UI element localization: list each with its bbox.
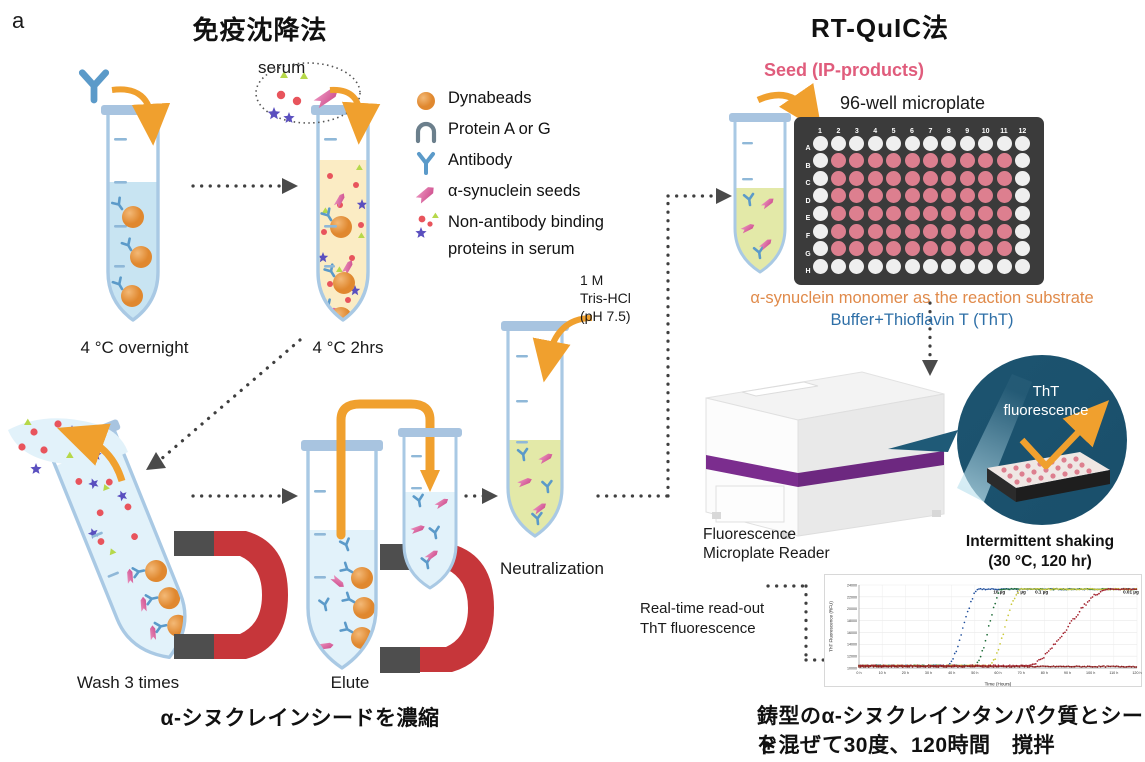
microplate-well-H5[interactable] — [886, 259, 901, 274]
microplate-well-A1[interactable] — [813, 136, 828, 151]
microplate-well-B3[interactable] — [849, 153, 864, 168]
chart-x-tick: 30 h — [925, 671, 932, 675]
chart-y-tick: 14000 — [847, 643, 857, 647]
microplate-well-C9[interactable] — [960, 171, 975, 186]
microplate-well-F8[interactable] — [941, 224, 956, 239]
microplate-col-label: 6 — [906, 128, 918, 135]
microplate-well-E4[interactable] — [868, 206, 883, 221]
tube-step2 — [311, 105, 375, 335]
tris-label-line2: Tris-HCl — [580, 290, 631, 306]
microplate-col-label: 12 — [1016, 128, 1028, 135]
tube-step1 — [101, 105, 165, 332]
microplate-well-C2[interactable] — [831, 171, 846, 186]
microplate-well-G1[interactable] — [813, 241, 828, 256]
microplate-well-H9[interactable] — [960, 259, 975, 274]
microplate-well-F9[interactable] — [960, 224, 975, 239]
microplate-well-E6[interactable] — [905, 206, 920, 221]
chart-series-annotation: 1 µg — [1017, 589, 1026, 594]
microplate-col-label: 1 — [814, 128, 826, 135]
microplate-col-label: 4 — [869, 128, 881, 135]
dynabead-icon — [414, 88, 448, 114]
microplate-row-label: E — [802, 215, 814, 222]
shaking-caption-line1: Intermittent shaking — [915, 533, 1145, 551]
chart-x-tick: 120 h — [1132, 671, 1141, 675]
microplate-well-D6[interactable] — [905, 188, 920, 203]
microplate-row-label: G — [802, 251, 814, 258]
microplate-well-A6[interactable] — [905, 136, 920, 151]
microplate-well-H6[interactable] — [905, 259, 920, 274]
microplate-well-A11[interactable] — [997, 136, 1012, 151]
legend-label: Non-antibody binding — [448, 212, 604, 231]
microplate-well-F2[interactable] — [831, 224, 846, 239]
microplate-well-A8[interactable] — [941, 136, 956, 151]
serum-proteins-icon — [414, 212, 448, 238]
legend-item-antibody: Antibody — [414, 150, 676, 176]
microplate-well-F3[interactable] — [849, 224, 864, 239]
microplate-well-D3[interactable] — [849, 188, 864, 203]
tht-circle-label-line1: ThT — [996, 383, 1096, 400]
microplate-well-B6[interactable] — [905, 153, 920, 168]
microplate-well-A2[interactable] — [831, 136, 846, 151]
seed-ip-products-label: Seed (IP-products) — [764, 60, 924, 81]
microplate-well-H8[interactable] — [941, 259, 956, 274]
chart-y-tick: 24000 — [847, 583, 857, 587]
microplate-well-C7[interactable] — [923, 171, 938, 186]
buffer-caption: Buffer+Thioflavin T (ThT) — [712, 311, 1132, 330]
microplate-well-C10[interactable] — [978, 171, 993, 186]
legend-item-synuclein-seeds: α-synuclein seeds — [414, 181, 676, 207]
microplate-well-G5[interactable] — [886, 241, 901, 256]
chart-y-axis-title: ThT Fluorescence (RFU) — [829, 601, 834, 652]
microplate-well-F7[interactable] — [923, 224, 938, 239]
microplate-col-label: 9 — [961, 128, 973, 135]
microplate-row-label: B — [802, 163, 814, 170]
legend-label: Antibody — [448, 150, 512, 169]
microplate-well-G11[interactable] — [997, 241, 1012, 256]
microplate-reader — [706, 372, 944, 539]
microplate-well-F10[interactable] — [978, 224, 993, 239]
microplate-well-E2[interactable] — [831, 206, 846, 221]
chart-x-tick: 80 h — [1041, 671, 1048, 675]
chart-x-tick: 40 h — [948, 671, 955, 675]
seed-to-plate-arrow — [758, 95, 808, 112]
chart-x-tick: 20 h — [902, 671, 909, 675]
legend-spacer-icon — [414, 239, 448, 265]
microplate-row-label: A — [802, 145, 814, 152]
microplate-well-G8[interactable] — [941, 241, 956, 256]
microplate-title: 96-well microplate — [840, 93, 985, 114]
microplate-well-D8[interactable] — [941, 188, 956, 203]
chart-x-tick: 60 h — [994, 671, 1001, 675]
microplate-well-H11[interactable] — [997, 259, 1012, 274]
serum-label: serum — [258, 58, 305, 78]
microplate-well-F11[interactable] — [997, 224, 1012, 239]
microplate-well-A7[interactable] — [923, 136, 938, 151]
microplate-well-E12[interactable] — [1015, 206, 1030, 221]
chart-x-tick: 50 h — [971, 671, 978, 675]
microplate-well-C5[interactable] — [886, 171, 901, 186]
microplate-row-label: H — [802, 268, 814, 275]
microplate-well-E8[interactable] — [941, 206, 956, 221]
chart-x-axis-title: Time (Hours) — [985, 682, 1012, 687]
microplate-well-E5[interactable] — [886, 206, 901, 221]
microplate-well-F1[interactable] — [813, 224, 828, 239]
step1-caption: 4 °C overnight — [62, 338, 207, 358]
substrate-caption: α-synuclein monomer as the reaction subs… — [712, 289, 1132, 308]
microplate-well-D2[interactable] — [831, 188, 846, 203]
protein-ag-icon — [414, 119, 448, 145]
microplate-well-B12[interactable] — [1015, 153, 1030, 168]
chart-y-tick: 12000 — [847, 655, 857, 659]
microplate-well-E10[interactable] — [978, 206, 993, 221]
microplate-well-A4[interactable] — [868, 136, 883, 151]
microplate-well-C11[interactable] — [997, 171, 1012, 186]
microplate-well-A10[interactable] — [978, 136, 993, 151]
chart-x-tick: 0 h — [856, 671, 861, 675]
legend-item-dynabeads: Dynabeads — [414, 88, 676, 114]
chart-x-tick: 110 h — [1109, 671, 1118, 675]
chart-y-tick: 18000 — [847, 619, 857, 623]
chart-x-tick: 70 h — [1018, 671, 1025, 675]
microplate-well-B9[interactable] — [960, 153, 975, 168]
microplate-well-F6[interactable] — [905, 224, 920, 239]
microplate-well-E11[interactable] — [997, 206, 1012, 221]
microplate-well-G10[interactable] — [978, 241, 993, 256]
microplate-well-G9[interactable] — [960, 241, 975, 256]
microplate-col-label: 5 — [888, 128, 900, 135]
chart-y-tick: 10000 — [847, 666, 857, 670]
microplate-well-G3[interactable] — [849, 241, 864, 256]
reader-caption-line2: Microplate Reader — [703, 545, 830, 563]
microplate-row-label: D — [802, 198, 814, 205]
microplate-well-D7[interactable] — [923, 188, 938, 203]
microplate-col-label: 11 — [998, 128, 1010, 135]
microplate-well-C4[interactable] — [868, 171, 883, 186]
chart-x-tick: 90 h — [1064, 671, 1071, 675]
microplate-well-D9[interactable] — [960, 188, 975, 203]
microplate-well-H3[interactable] — [849, 259, 864, 274]
microplate-well-B10[interactable] — [978, 153, 993, 168]
microplate-well-B8[interactable] — [941, 153, 956, 168]
chart-x-tick: 100 h — [1086, 671, 1095, 675]
microplate-well-F12[interactable] — [1015, 224, 1030, 239]
microplate-well-H10[interactable] — [978, 259, 993, 274]
microplate-well-D1[interactable] — [813, 188, 828, 203]
microplate-96well[interactable]: 123456789101112 ABCDEFGH — [794, 117, 1044, 285]
microplate-well-B11[interactable] — [997, 153, 1012, 168]
microplate-col-label: 7 — [924, 128, 936, 135]
antibody-icon — [414, 150, 448, 176]
chart-x-tick: 10 h — [879, 671, 886, 675]
step4-caption: Elute — [295, 673, 405, 693]
microplate-well-B5[interactable] — [886, 153, 901, 168]
microplate-well-H4[interactable] — [868, 259, 883, 274]
microplate-well-C6[interactable] — [905, 171, 920, 186]
microplate-col-label: 3 — [851, 128, 863, 135]
microplate-well-F5[interactable] — [886, 224, 901, 239]
right-bottom-caption-line2: を混ぜて30度、120時間 撹拌 — [757, 729, 1055, 759]
step3-caption: Wash 3 times — [48, 673, 208, 693]
tube-step5 — [501, 321, 569, 550]
tht-kinetics-chart: 10 µg1 µg0.1 µg0.01 µg100001200014000160… — [824, 574, 1142, 687]
microplate-well-G6[interactable] — [905, 241, 920, 256]
microplate-well-C3[interactable] — [849, 171, 864, 186]
chart-series-annotation: 0.01 µg — [1123, 589, 1139, 594]
legend-item-serum-proteins-cont: proteins in serum — [414, 239, 676, 265]
microplate-well-E9[interactable] — [960, 206, 975, 221]
microplate-well-H1[interactable] — [813, 259, 828, 274]
microplate-well-G7[interactable] — [923, 241, 938, 256]
microplate-well-D12[interactable] — [1015, 188, 1030, 203]
microplate-well-E7[interactable] — [923, 206, 938, 221]
tris-label-line3: (pH 7.5) — [580, 308, 631, 324]
chart-series-annotation: 0.1 µg — [1035, 589, 1048, 594]
synuclein-seed-icon — [414, 181, 448, 207]
microplate-well-G2[interactable] — [831, 241, 846, 256]
microplate-col-label: 8 — [943, 128, 955, 135]
readout-caption-line2: ThT fluorescence — [640, 620, 756, 637]
microplate-well-H2[interactable] — [831, 259, 846, 274]
legend-item-protein-ag: Protein A or G — [414, 119, 676, 145]
tht-chart-svg: 10 µg1 µg0.1 µg0.01 µg100001200014000160… — [825, 575, 1143, 688]
microplate-well-B7[interactable] — [923, 153, 938, 168]
shaking-caption-line2: (30 °C, 120 hr) — [915, 553, 1145, 571]
chart-y-tick: 16000 — [847, 631, 857, 635]
microplate-well-C1[interactable] — [813, 171, 828, 186]
microplate-well-F4[interactable] — [868, 224, 883, 239]
microplate-well-A12[interactable] — [1015, 136, 1030, 151]
legend-item-serum-proteins: Non-antibody binding — [414, 212, 676, 238]
step5-caption: Neutralization — [472, 559, 632, 579]
microplate-row-label: F — [802, 233, 814, 240]
legend-label: α-synuclein seeds — [448, 181, 580, 200]
microplate-well-A3[interactable] — [849, 136, 864, 151]
microplate-well-D10[interactable] — [978, 188, 993, 203]
legend: Dynabeads Protein A or G Antibody — [414, 88, 676, 270]
microplate-well-E3[interactable] — [849, 206, 864, 221]
tht-circle-label-line2: fluorescence — [976, 402, 1116, 419]
microplate-well-D5[interactable] — [886, 188, 901, 203]
microplate-well-C12[interactable] — [1015, 171, 1030, 186]
legend-label: Dynabeads — [448, 88, 531, 107]
microplate-well-A5[interactable] — [886, 136, 901, 151]
microplate-well-H7[interactable] — [923, 259, 938, 274]
microplate-well-G12[interactable] — [1015, 241, 1030, 256]
step2-caption: 4 °C 2hrs — [283, 338, 413, 358]
left-bottom-caption: α-シヌクレインシードを濃縮 — [110, 702, 490, 732]
readout-caption-line1: Real-time read-out — [640, 600, 764, 617]
microplate-row-label: C — [802, 180, 814, 187]
legend-label: proteins in serum — [448, 239, 575, 258]
microplate-well-A9[interactable] — [960, 136, 975, 151]
microplate-well-D4[interactable] — [868, 188, 883, 203]
chart-y-tick: 20000 — [847, 607, 857, 611]
microplate-well-D11[interactable] — [997, 188, 1012, 203]
microplate-well-E1[interactable] — [813, 206, 828, 221]
tris-label-line1: 1 M — [580, 272, 603, 288]
reader-caption-line1: Fluorescence — [703, 526, 796, 544]
microplate-well-G4[interactable] — [868, 241, 883, 256]
microplate-well-B1[interactable] — [813, 153, 828, 168]
microplate-well-B4[interactable] — [868, 153, 883, 168]
microplate-col-label: 2 — [832, 128, 844, 135]
microplate-well-H12[interactable] — [1015, 259, 1030, 274]
chart-y-tick: 22000 — [847, 595, 857, 599]
microplate-col-label: 10 — [980, 128, 992, 135]
microplate-well-B2[interactable] — [831, 153, 846, 168]
magnet-wash — [174, 531, 288, 659]
tube-ip-product — [729, 113, 791, 298]
microplate-well-C8[interactable] — [941, 171, 956, 186]
legend-label: Protein A or G — [448, 119, 551, 138]
